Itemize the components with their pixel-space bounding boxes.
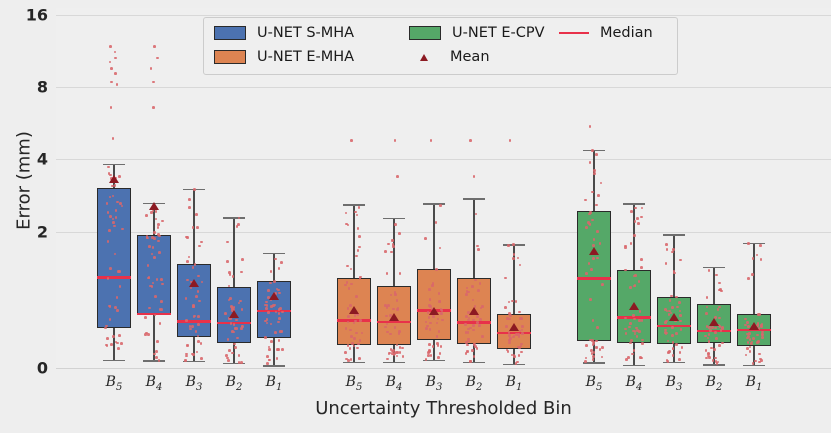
strip-point xyxy=(668,350,671,353)
strip-point xyxy=(392,245,395,248)
strip-point xyxy=(109,267,112,270)
strip-point xyxy=(188,198,191,201)
strip-point xyxy=(761,323,764,326)
strip-point xyxy=(356,214,359,217)
strip-point xyxy=(350,358,353,361)
legend-swatch-icon xyxy=(214,26,246,40)
strip-point xyxy=(751,273,754,276)
strip-point xyxy=(159,308,162,311)
strip-point xyxy=(712,359,715,362)
whisker-cap-lower xyxy=(103,360,125,361)
strip-point xyxy=(197,290,200,293)
whisker-cap-upper xyxy=(103,164,125,165)
strip-point xyxy=(761,336,764,339)
strip-point xyxy=(353,337,356,340)
strip-point xyxy=(278,339,281,342)
median-line xyxy=(97,276,131,278)
strip-point xyxy=(358,357,361,360)
strip-point-outlier xyxy=(396,175,399,178)
strip-point xyxy=(151,236,154,239)
strip-point xyxy=(633,285,636,288)
strip-point xyxy=(241,258,244,261)
strip-point xyxy=(396,355,399,358)
median-line xyxy=(257,310,291,312)
box-u-net-s-mha-B4[interactable] xyxy=(137,235,171,314)
strip-point-outlier xyxy=(109,61,112,64)
strip-point xyxy=(401,347,404,350)
strip-point xyxy=(394,223,397,226)
x-axis-spine xyxy=(56,368,831,369)
figure: 024816 B5B4B3B2B1B5B4B3B2B1B5B4B3B2B1 Un… xyxy=(0,0,831,433)
legend-item-label: Mean xyxy=(450,49,490,65)
strip-point xyxy=(198,245,201,248)
strip-point xyxy=(679,259,682,262)
strip-point xyxy=(159,322,162,325)
strip-point xyxy=(747,341,750,344)
strip-point xyxy=(716,362,719,365)
x-tick-label-2-B3: B3 xyxy=(654,374,694,393)
strip-point xyxy=(345,327,348,330)
strip-point xyxy=(280,261,283,264)
strip-point xyxy=(679,314,682,317)
strip-point xyxy=(634,207,637,210)
legend-item-label: U-NET E-MHA xyxy=(257,49,354,65)
strip-point xyxy=(708,269,711,272)
strip-point-outlier xyxy=(114,72,117,75)
whisker-cap-lower xyxy=(343,362,365,363)
strip-point xyxy=(438,300,441,303)
strip-point xyxy=(118,270,121,273)
strip-point xyxy=(281,348,284,351)
strip-point xyxy=(632,314,635,317)
strip-point xyxy=(596,230,599,233)
strip-point xyxy=(106,337,109,340)
x-tick-label-2-B5: B5 xyxy=(574,374,614,393)
strip-point xyxy=(469,360,472,363)
strip-point xyxy=(266,355,269,358)
x-tick-label-2-B1: B1 xyxy=(734,374,774,393)
strip-point xyxy=(680,328,683,331)
strip-point xyxy=(665,262,668,265)
strip-point xyxy=(196,351,199,354)
strip-point xyxy=(354,211,357,214)
strip-point xyxy=(625,332,628,335)
strip-point xyxy=(184,359,187,362)
strip-point xyxy=(356,347,359,350)
strip-point xyxy=(504,277,507,280)
strip-point xyxy=(629,286,632,289)
strip-point xyxy=(148,245,151,248)
strip-point xyxy=(601,346,604,349)
strip-point xyxy=(675,343,678,346)
strip-point xyxy=(197,323,200,326)
strip-point xyxy=(520,317,523,320)
strip-point xyxy=(512,243,515,246)
whisker-cap-upper xyxy=(623,203,645,204)
strip-point xyxy=(592,257,595,260)
strip-point xyxy=(232,275,235,278)
strip-point xyxy=(279,330,282,333)
strip-point xyxy=(681,346,684,349)
strip-point xyxy=(429,298,432,301)
strip-point-outlier xyxy=(469,139,472,142)
strip-point xyxy=(591,219,594,222)
strip-point xyxy=(277,321,280,324)
x-tick-label-0-B2: B2 xyxy=(214,374,254,393)
strip-point xyxy=(357,249,360,252)
strip-point-outlier xyxy=(110,67,113,70)
strip-point xyxy=(226,260,229,263)
strip-point xyxy=(350,268,353,271)
strip-point xyxy=(465,352,468,355)
legend-mean-triangle-icon xyxy=(409,54,439,61)
strip-point xyxy=(513,253,516,256)
strip-point-outlier xyxy=(509,139,512,142)
whisker-upper xyxy=(673,234,674,297)
strip-point xyxy=(107,166,110,169)
strip-point xyxy=(505,325,508,328)
strip-point xyxy=(192,353,195,356)
legend[interactable]: U-NET S-MHAU-NET E-MHAU-NET E-CPVMeanMed… xyxy=(203,17,678,75)
strip-point xyxy=(437,356,440,359)
x-tick-label-2-B4: B4 xyxy=(614,374,654,393)
strip-point xyxy=(278,308,281,311)
strip-point-outlier xyxy=(394,139,397,142)
strip-point-outlier xyxy=(150,67,153,70)
strip-point xyxy=(393,353,396,356)
strip-point xyxy=(345,212,348,215)
strip-point xyxy=(193,188,196,191)
strip-point xyxy=(720,290,723,293)
whisker-cap-upper xyxy=(263,253,285,254)
strip-point xyxy=(599,242,602,245)
strip-point xyxy=(627,356,630,359)
strip-point xyxy=(747,242,750,245)
strip-point xyxy=(355,255,358,258)
strip-point xyxy=(464,323,467,326)
legend-swatch-icon xyxy=(409,26,441,40)
strip-point xyxy=(587,221,590,224)
mean-marker xyxy=(469,307,479,315)
strip-point xyxy=(511,300,514,303)
y-axis-label: Error (mm) xyxy=(14,81,35,281)
strip-point-outlier xyxy=(152,106,155,109)
strip-point xyxy=(467,338,470,341)
strip-point xyxy=(589,161,592,164)
whisker-upper xyxy=(393,218,394,286)
strip-point xyxy=(585,357,588,360)
strip-point xyxy=(435,268,438,271)
strip-point xyxy=(155,350,158,353)
strip-point xyxy=(108,305,111,308)
strip-point-outlier xyxy=(153,45,156,48)
strip-point xyxy=(629,342,632,345)
strip-point xyxy=(749,346,752,349)
x-axis-label: Uncertainty Thresholded Bin xyxy=(56,398,831,419)
whisker-upper xyxy=(353,204,354,278)
strip-point xyxy=(226,241,229,244)
whisker-upper xyxy=(593,150,594,211)
strip-point xyxy=(477,248,480,251)
legend-item-u-net-e-cpv[interactable]: U-NET E-CPV xyxy=(409,22,545,44)
whisker-cap-upper xyxy=(423,203,445,204)
strip-point xyxy=(595,340,598,343)
strip-point-outlier xyxy=(116,83,119,86)
strip-point xyxy=(388,352,391,355)
strip-point xyxy=(115,216,118,219)
strip-point xyxy=(506,317,509,320)
strip-point xyxy=(185,355,188,358)
strip-point xyxy=(432,315,435,318)
strip-point xyxy=(234,346,237,349)
strip-point xyxy=(670,295,673,298)
strip-point xyxy=(721,326,724,329)
mean-marker xyxy=(229,310,239,318)
strip-point xyxy=(155,218,158,221)
gridline-y-16 xyxy=(56,15,831,16)
mean-marker xyxy=(349,306,359,314)
strip-point xyxy=(744,318,747,321)
strip-point xyxy=(227,338,230,341)
median-line xyxy=(497,332,531,334)
y-tick-label-0: 0 xyxy=(0,359,48,378)
strip-point xyxy=(671,334,674,337)
strip-point xyxy=(635,327,638,330)
strip-point xyxy=(758,353,761,356)
gridline-y-8 xyxy=(56,87,831,88)
strip-point xyxy=(350,335,353,338)
strip-point xyxy=(706,296,709,299)
x-tick-label-1-B4: B4 xyxy=(374,374,414,393)
strip-point xyxy=(601,356,604,359)
strip-point xyxy=(387,304,390,307)
gridline-y-4 xyxy=(56,159,831,160)
strip-point xyxy=(629,322,632,325)
strip-point xyxy=(427,351,430,354)
strip-point xyxy=(114,184,117,187)
x-tick-label-1-B5: B5 xyxy=(334,374,374,393)
strip-point xyxy=(278,267,281,270)
mean-marker xyxy=(629,302,639,310)
strip-point xyxy=(354,320,357,323)
legend-item-u-net-s-mha[interactable]: U-NET S-MHA xyxy=(214,22,354,44)
strip-point xyxy=(344,284,347,287)
strip-point xyxy=(761,333,764,336)
strip-point xyxy=(638,319,641,322)
strip-point xyxy=(518,335,521,338)
whisker-cap-upper xyxy=(383,218,405,219)
mean-marker xyxy=(429,307,439,315)
strip-point xyxy=(671,326,674,329)
strip-point xyxy=(754,360,757,363)
x-tick-label-1-B3: B3 xyxy=(414,374,454,393)
strip-point xyxy=(144,316,147,319)
strip-point xyxy=(270,340,273,343)
strip-point xyxy=(231,330,234,333)
legend-median-line-icon xyxy=(559,32,589,34)
strip-point xyxy=(144,333,147,336)
strip-point xyxy=(590,268,593,271)
strip-point xyxy=(157,226,160,229)
whisker-cap-lower xyxy=(143,360,165,361)
strip-point-outlier xyxy=(110,106,113,109)
strip-point xyxy=(593,172,596,175)
strip-point xyxy=(508,312,511,315)
legend-item-u-net-e-mha[interactable]: U-NET E-MHA xyxy=(214,46,354,68)
legend-item-mean[interactable]: Mean xyxy=(409,46,490,68)
strip-point xyxy=(428,316,431,319)
strip-point xyxy=(200,241,203,244)
strip-point xyxy=(757,313,760,316)
strip-point xyxy=(585,344,588,347)
legend-item-median[interactable]: Median xyxy=(559,22,653,44)
x-tick-label-1-B1: B1 xyxy=(494,374,534,393)
strip-point xyxy=(624,246,627,249)
strip-point xyxy=(278,317,281,320)
strip-point xyxy=(709,329,712,332)
whisker-cap-upper xyxy=(743,243,765,244)
strip-point xyxy=(241,325,244,328)
strip-point xyxy=(584,199,587,202)
strip-point-outlier xyxy=(110,81,113,84)
strip-point xyxy=(595,204,598,207)
strip-point xyxy=(384,326,387,329)
strip-point xyxy=(236,337,239,340)
strip-point xyxy=(745,354,748,357)
strip-point xyxy=(104,327,107,330)
strip-point xyxy=(757,340,760,343)
strip-point xyxy=(274,331,277,334)
strip-point xyxy=(678,301,681,304)
whisker-cap-lower xyxy=(703,364,725,365)
strip-point xyxy=(270,305,273,308)
strip-point xyxy=(637,222,640,225)
strip-point xyxy=(355,332,358,335)
strip-point xyxy=(664,308,667,311)
strip-point xyxy=(397,351,400,354)
strip-point xyxy=(157,223,160,226)
strip-point xyxy=(399,272,402,275)
whisker-upper xyxy=(433,203,434,268)
strip-point xyxy=(161,220,164,223)
strip-point xyxy=(668,310,671,313)
median-line xyxy=(657,325,691,327)
strip-point xyxy=(477,289,480,292)
strip-point xyxy=(276,348,279,351)
strip-point xyxy=(640,266,643,269)
strip-point xyxy=(520,351,523,354)
whisker-cap-upper xyxy=(703,267,725,268)
box-u-net-e-cpv-B5[interactable] xyxy=(577,211,611,341)
strip-point xyxy=(118,334,121,337)
mean-marker xyxy=(389,313,399,321)
strip-point xyxy=(439,204,442,207)
strip-point xyxy=(241,308,244,311)
strip-point xyxy=(265,307,268,310)
box-u-net-s-mha-B3[interactable] xyxy=(177,264,211,337)
strip-point xyxy=(396,299,399,302)
whisker-cap-upper xyxy=(583,150,605,151)
strip-point xyxy=(155,210,158,213)
mean-marker xyxy=(189,279,199,287)
strip-point xyxy=(671,306,674,309)
strip-point-outlier xyxy=(589,125,592,128)
strip-point xyxy=(358,246,361,249)
strip-point xyxy=(394,293,397,296)
strip-point xyxy=(107,240,110,243)
strip-point xyxy=(399,351,402,354)
strip-point xyxy=(708,333,711,336)
strip-point xyxy=(387,243,390,246)
strip-point xyxy=(472,324,475,327)
strip-point xyxy=(398,332,401,335)
strip-point xyxy=(154,295,157,298)
strip-point xyxy=(428,343,431,346)
strip-point xyxy=(186,345,189,348)
strip-point xyxy=(402,355,405,358)
x-tick-label-0-B4: B4 xyxy=(134,374,174,393)
strip-point xyxy=(472,329,475,332)
strip-point xyxy=(386,358,389,361)
whisker-lower xyxy=(353,345,354,361)
strip-point xyxy=(508,301,511,304)
strip-point xyxy=(705,312,708,315)
strip-point xyxy=(624,269,627,272)
strip-point xyxy=(435,221,438,224)
strip-point xyxy=(466,344,469,347)
strip-point xyxy=(631,353,634,356)
strip-point xyxy=(718,282,721,285)
strip-point xyxy=(347,224,350,227)
strip-point xyxy=(679,351,682,354)
strip-point xyxy=(630,210,633,213)
whisker-lower xyxy=(113,328,114,360)
strip-point xyxy=(224,312,227,315)
strip-point xyxy=(436,342,439,345)
mean-marker xyxy=(269,292,279,300)
strip-point xyxy=(476,315,479,318)
strip-point xyxy=(390,251,393,254)
strip-point xyxy=(264,336,267,339)
strip-point xyxy=(276,357,279,360)
strip-point xyxy=(507,244,510,247)
whisker-upper xyxy=(473,198,474,278)
strip-point xyxy=(358,206,361,209)
strip-point xyxy=(107,277,110,280)
strip-point xyxy=(200,342,203,345)
strip-point xyxy=(185,319,188,322)
strip-point xyxy=(278,312,281,315)
strip-point xyxy=(634,274,637,277)
strip-point xyxy=(721,342,724,345)
box-u-net-e-mha-B3[interactable] xyxy=(417,269,451,341)
strip-point xyxy=(392,308,395,311)
strip-point xyxy=(157,233,160,236)
strip-point xyxy=(756,254,759,257)
strip-point-outlier xyxy=(109,45,112,48)
whisker-lower xyxy=(273,338,274,365)
strip-point xyxy=(158,251,161,254)
strip-point xyxy=(110,343,113,346)
strip-point xyxy=(195,330,198,333)
x-tick-label-0-B1: B1 xyxy=(254,374,294,393)
strip-point xyxy=(195,295,198,298)
strip-point xyxy=(153,231,156,234)
strip-point xyxy=(515,362,518,365)
strip-point xyxy=(600,182,603,185)
strip-point xyxy=(359,319,362,322)
strip-point xyxy=(714,357,717,360)
